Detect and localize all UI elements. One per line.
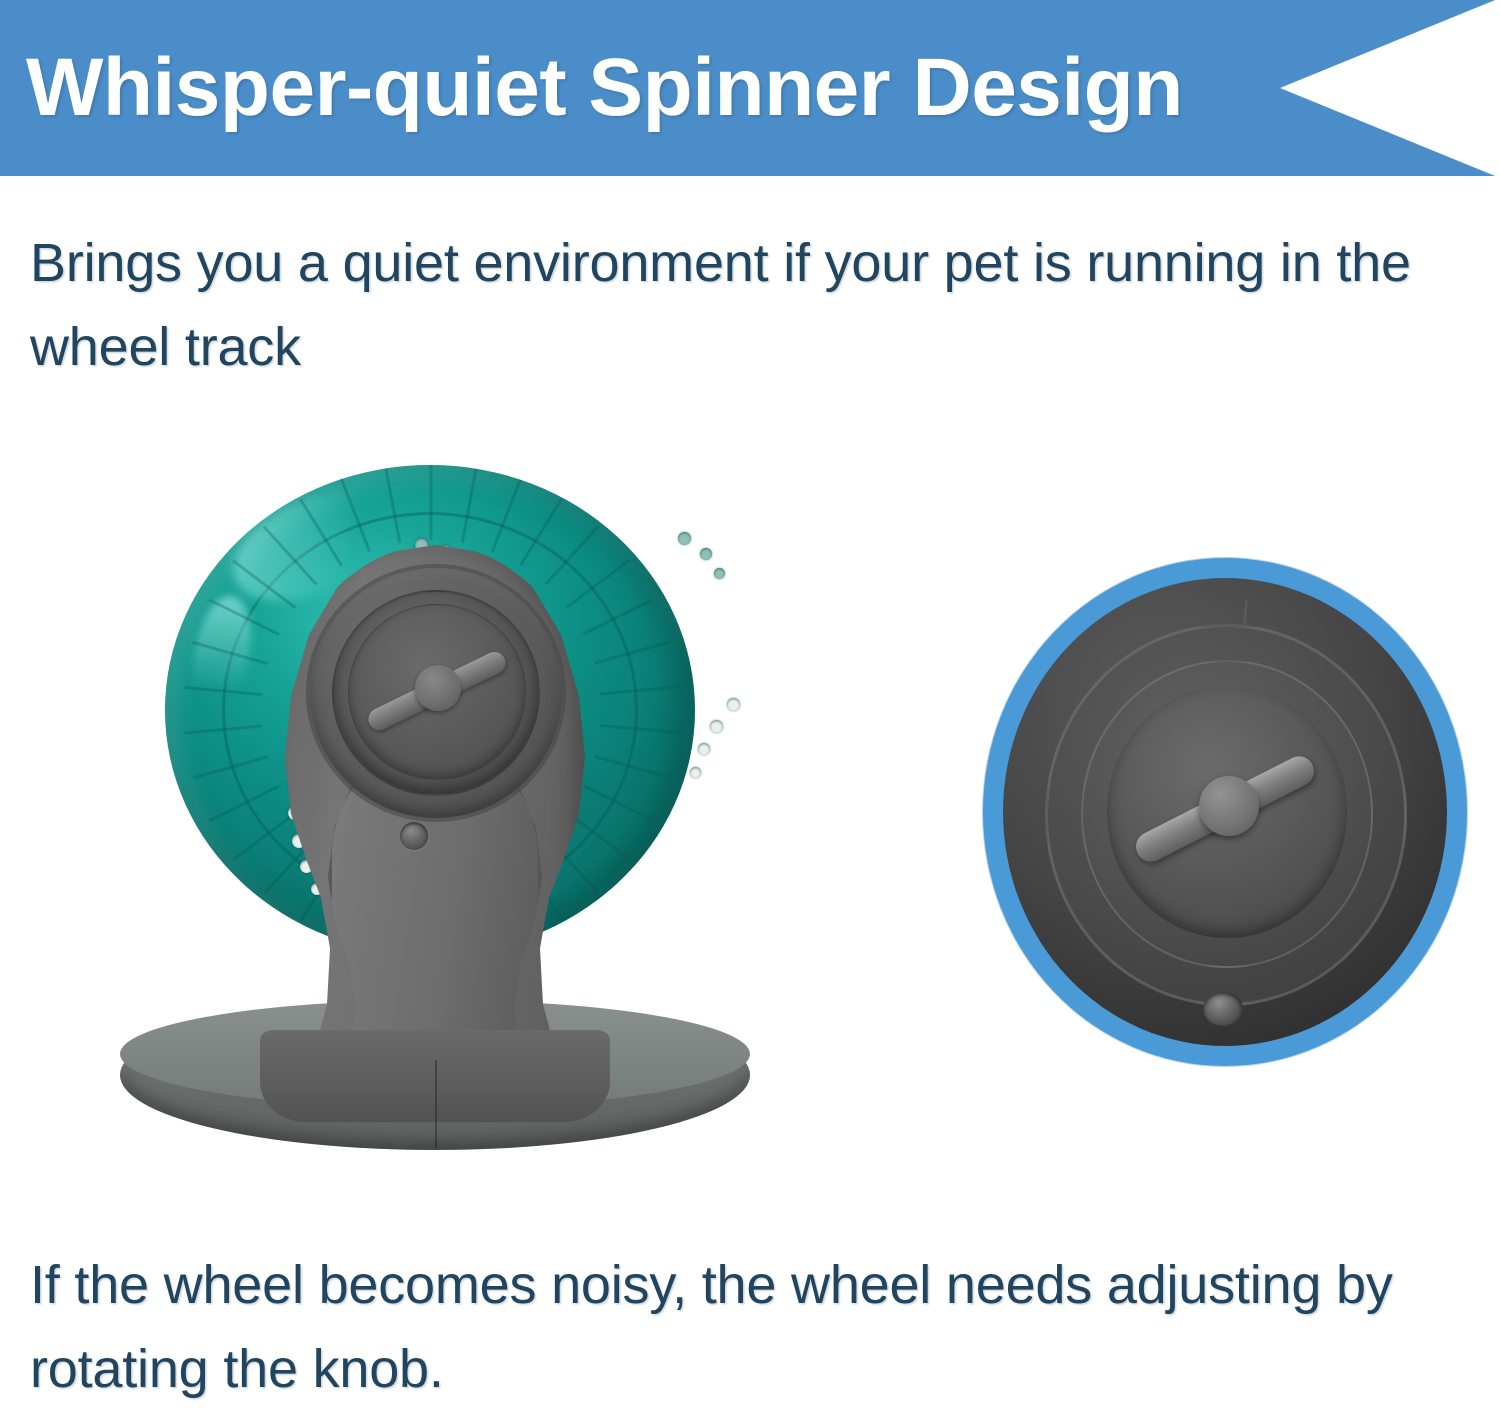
stand-seam-line <box>435 1060 437 1148</box>
knob-closeup-callout <box>983 558 1467 1066</box>
knob-closeup-image <box>1003 578 1447 1046</box>
product-photo <box>110 440 770 1180</box>
wheel-perforation-hole <box>678 532 691 545</box>
subtitle-text: Brings you a quiet environment if your p… <box>30 222 1480 389</box>
wheel-perforation-hole <box>714 568 725 579</box>
infographic-page: Whisper-quiet Spinner Design Brings you … <box>0 0 1500 1418</box>
wheel-perforation-hole <box>700 548 712 560</box>
wheel-perforation-hole <box>710 720 723 733</box>
closeup-knob-hub[interactable] <box>1199 776 1259 836</box>
wheel-perforation-hole <box>690 767 701 778</box>
stand-screw <box>400 822 428 850</box>
footer-text: If the wheel becomes noisy, the wheel ne… <box>30 1244 1490 1411</box>
page-title: Whisper-quiet Spinner Design <box>26 47 1183 129</box>
wheel-perforation-hole <box>727 698 740 711</box>
closeup-screw <box>1203 992 1243 1026</box>
wheel-perforation-hole <box>698 743 710 755</box>
header-banner: Whisper-quiet Spinner Design <box>0 0 1500 176</box>
adjustment-knob-hub[interactable] <box>415 665 461 711</box>
